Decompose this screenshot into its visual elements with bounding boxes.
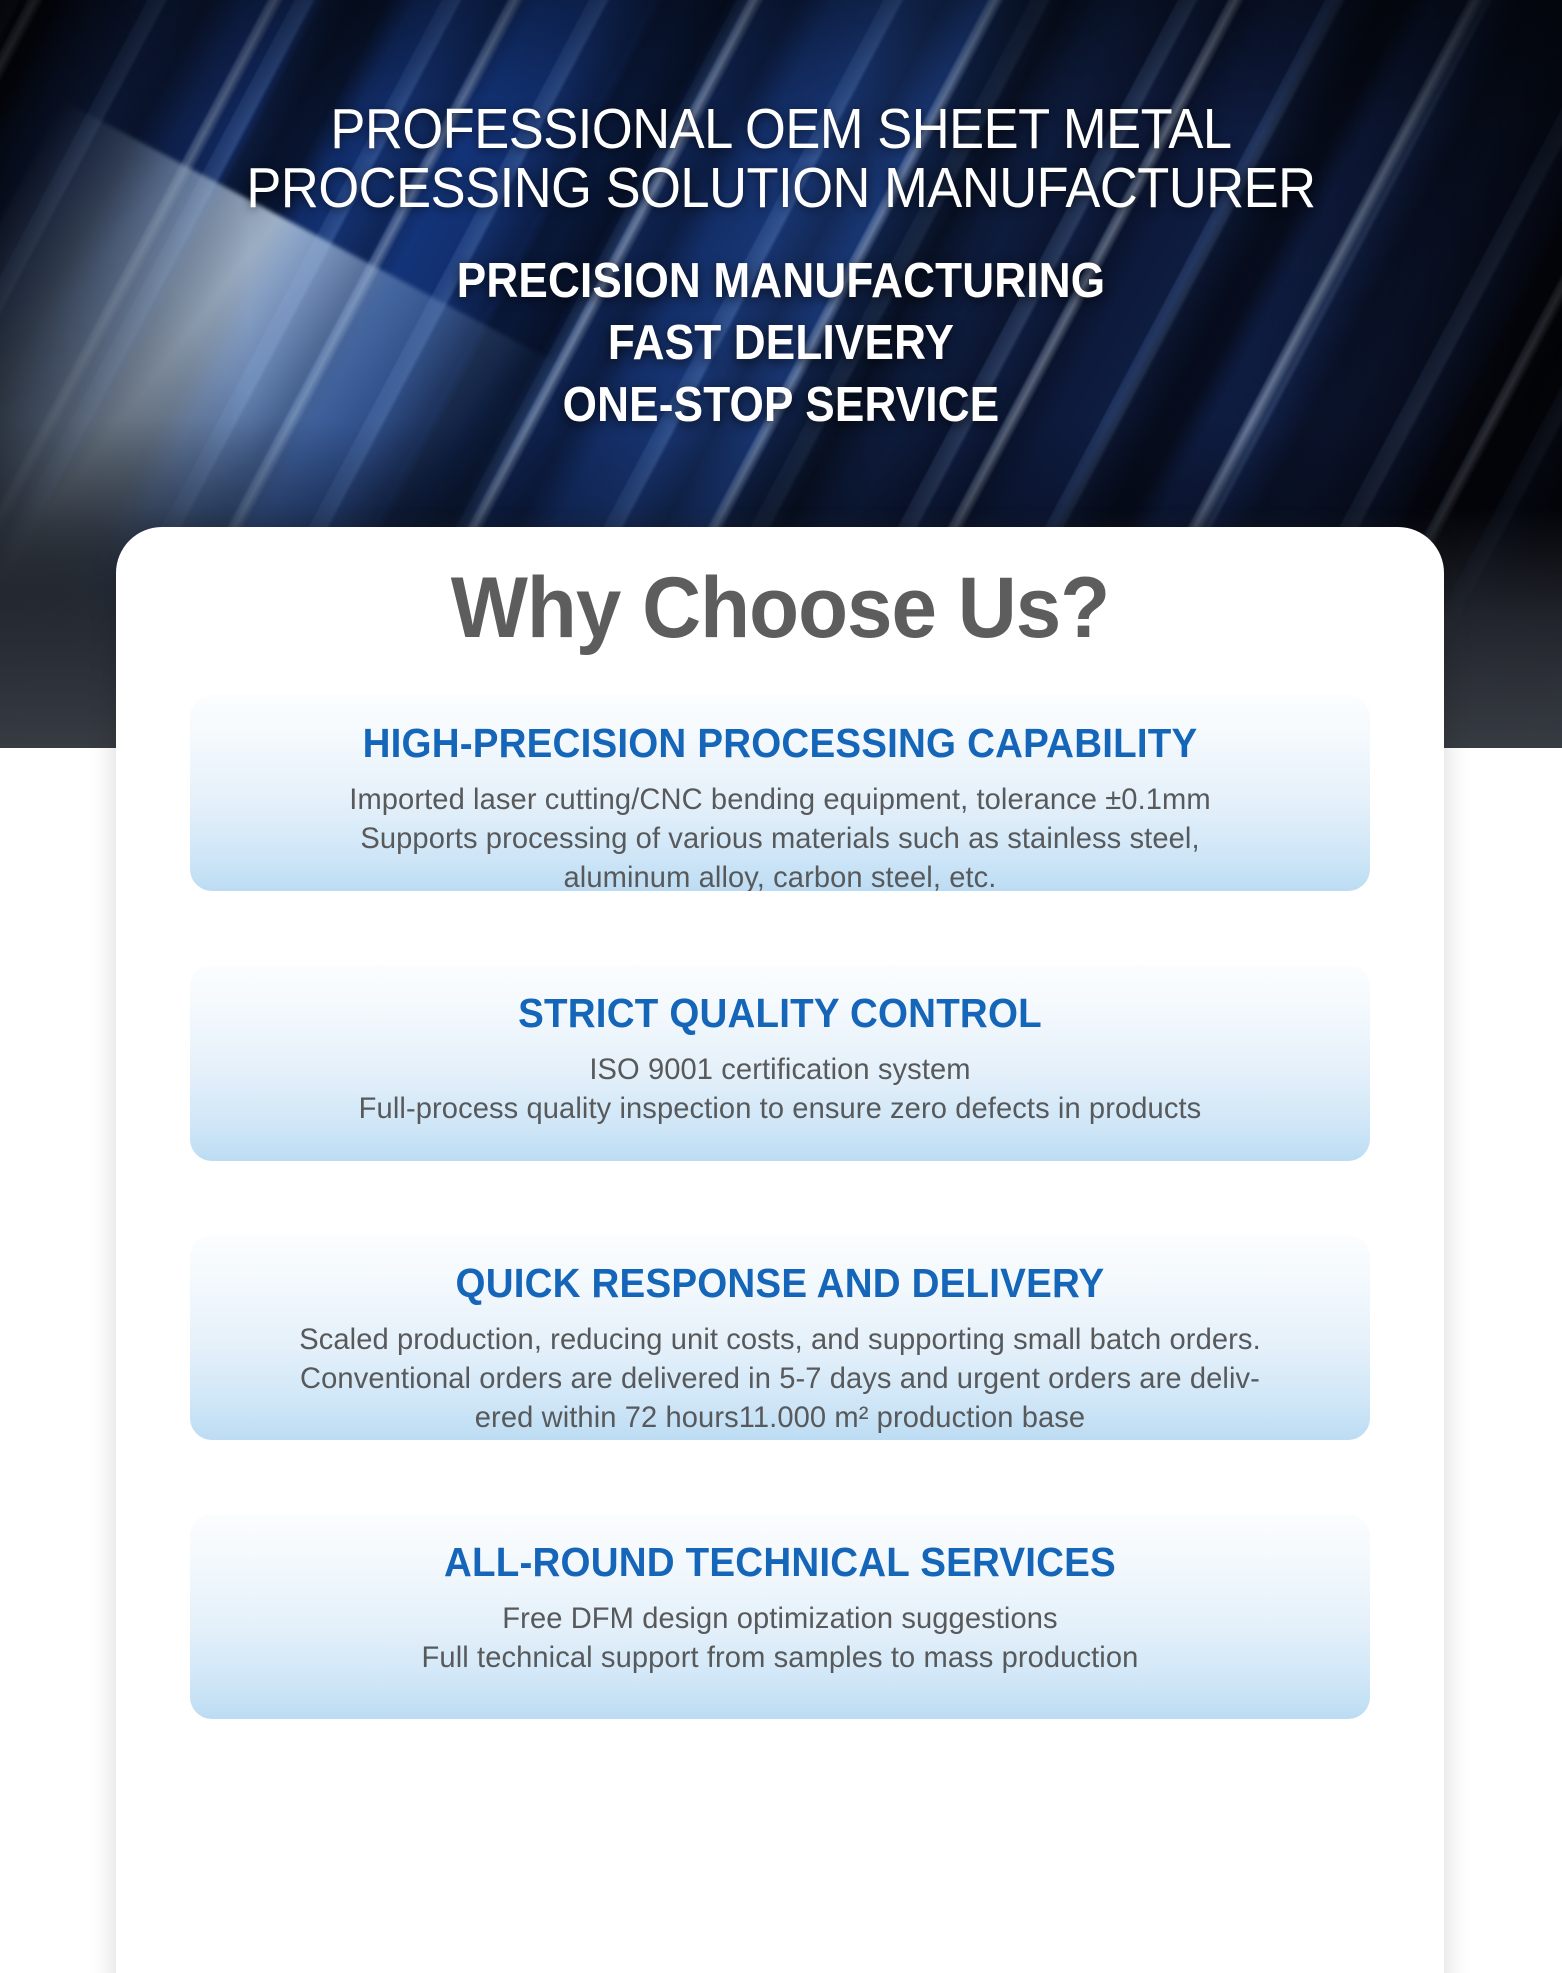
promo-page: PROFESSIONAL OEM SHEET METAL PROCESSING … [0,0,1562,1973]
feature-card-title: QUICK RESPONSE AND DELIVERY [257,1261,1302,1306]
feature-card: STRICT QUALITY CONTROL ISO 9001 certific… [190,965,1370,1161]
page-title: Why Choose Us? [220,563,1341,653]
feature-card-title: HIGH-PRECISION PROCESSING CAPABILITY [257,721,1302,766]
feature-card: QUICK RESPONSE AND DELIVERY Scaled produ… [190,1235,1370,1440]
hero-text-block: PROFESSIONAL OEM SHEET METAL PROCESSING … [0,0,1562,437]
feature-card-list: HIGH-PRECISION PROCESSING CAPABILITY Imp… [190,695,1370,1719]
feature-card-body: Scaled production, reducing unit costs, … [241,1320,1320,1440]
feature-card-title: STRICT QUALITY CONTROL [257,991,1302,1036]
content-panel: Why Choose Us? HIGH-PRECISION PROCESSING… [116,527,1444,1973]
feature-card-body: ISO 9001 certification system Full-proce… [241,1050,1320,1128]
feature-card-body: Imported laser cutting/CNC bending equip… [241,780,1320,891]
feature-card-body: Free DFM design optimization suggestions… [241,1599,1320,1677]
feature-card: HIGH-PRECISION PROCESSING CAPABILITY Imp… [190,695,1370,891]
feature-card-title: ALL-ROUND TECHNICAL SERVICES [257,1540,1302,1585]
hero-subheadline: PRECISION MANUFACTURING FAST DELIVERY ON… [78,251,1484,436]
hero-headline: PROFESSIONAL OEM SHEET METAL PROCESSING … [62,100,1499,217]
feature-card: ALL-ROUND TECHNICAL SERVICES Free DFM de… [190,1514,1370,1719]
